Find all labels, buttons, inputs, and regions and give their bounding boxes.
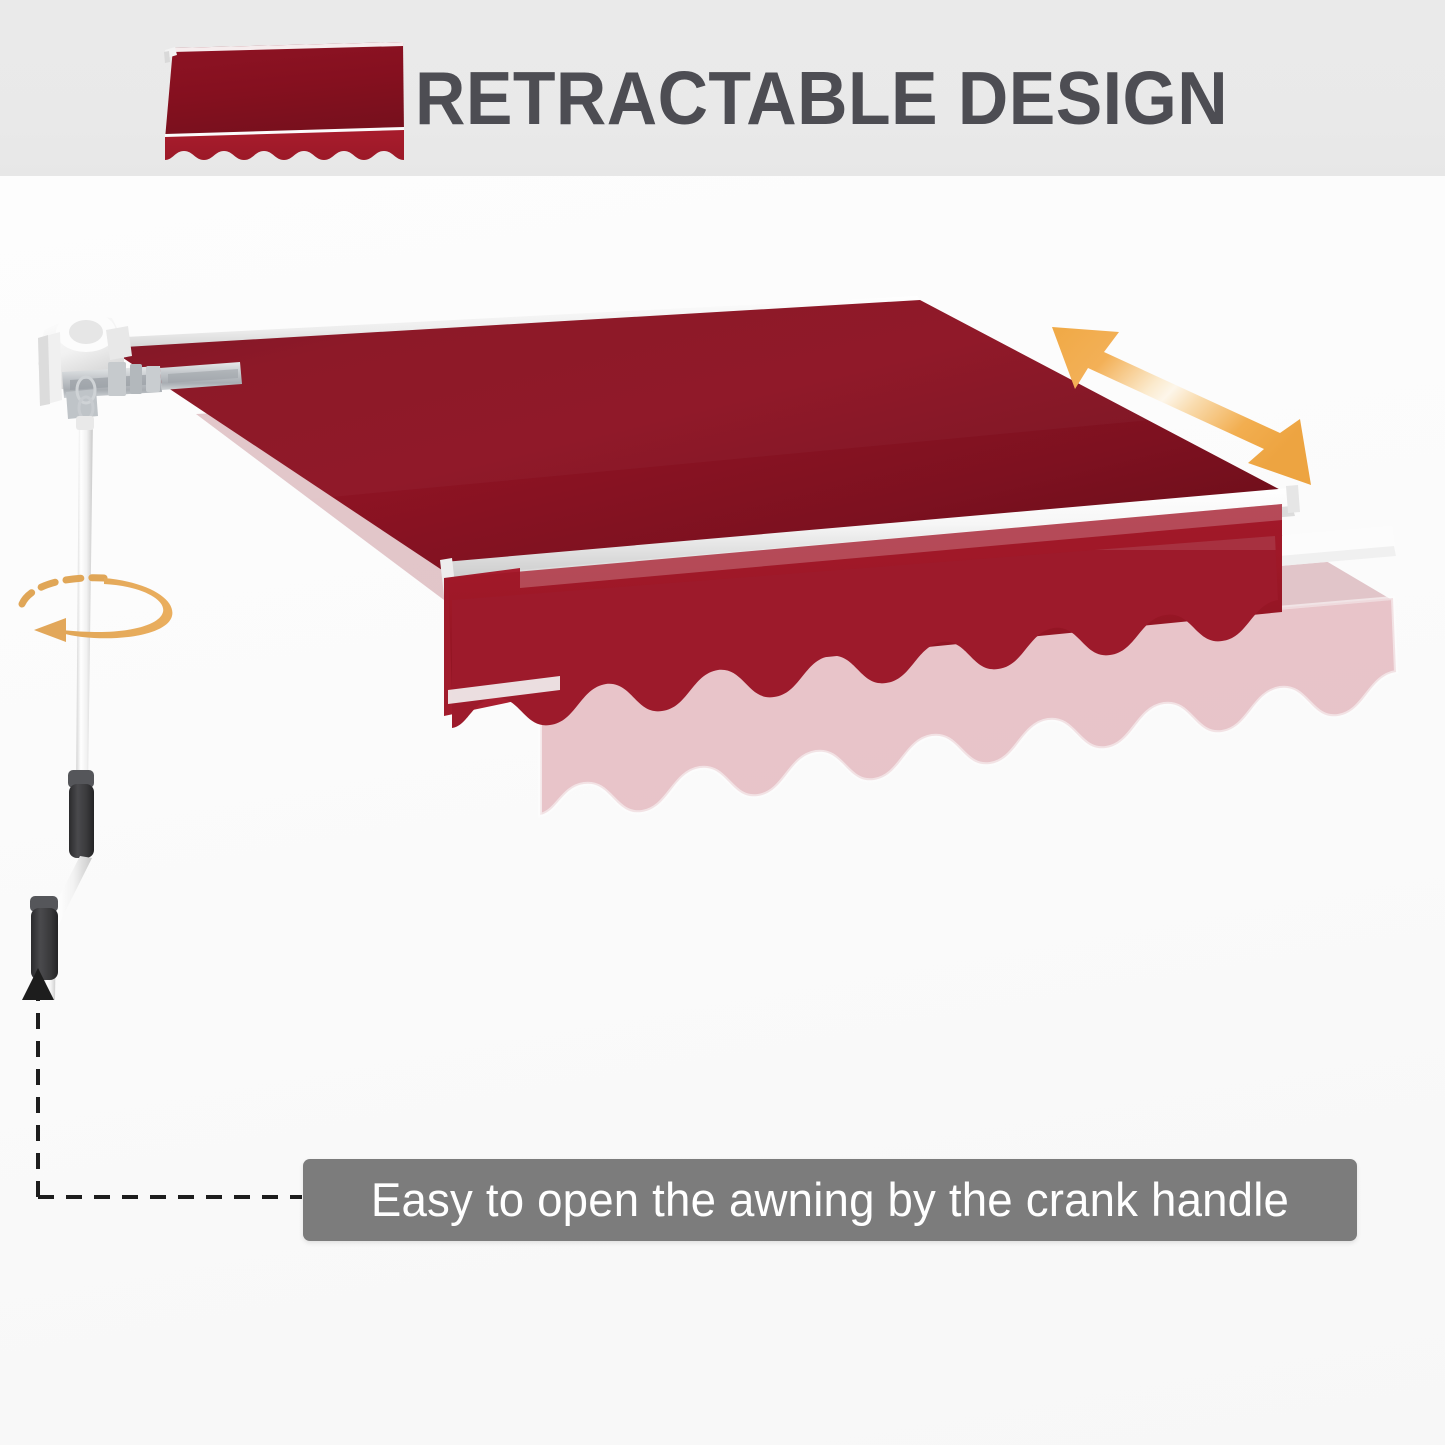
product-feature-image: RETRACTABLE DESIGN: [0, 0, 1445, 1445]
caption-text: Easy to open the awning by the crank han…: [319, 1159, 1341, 1241]
crank-rotation-arrow-icon: [22, 578, 172, 642]
caption-bar: Easy to open the awning by the crank han…: [303, 1159, 1357, 1241]
crank-handle: [30, 416, 94, 1000]
crank-lower-grip: [30, 896, 58, 980]
crank-upper-grip: [68, 770, 94, 858]
crank-handle-callout-pointer: [22, 968, 302, 1197]
